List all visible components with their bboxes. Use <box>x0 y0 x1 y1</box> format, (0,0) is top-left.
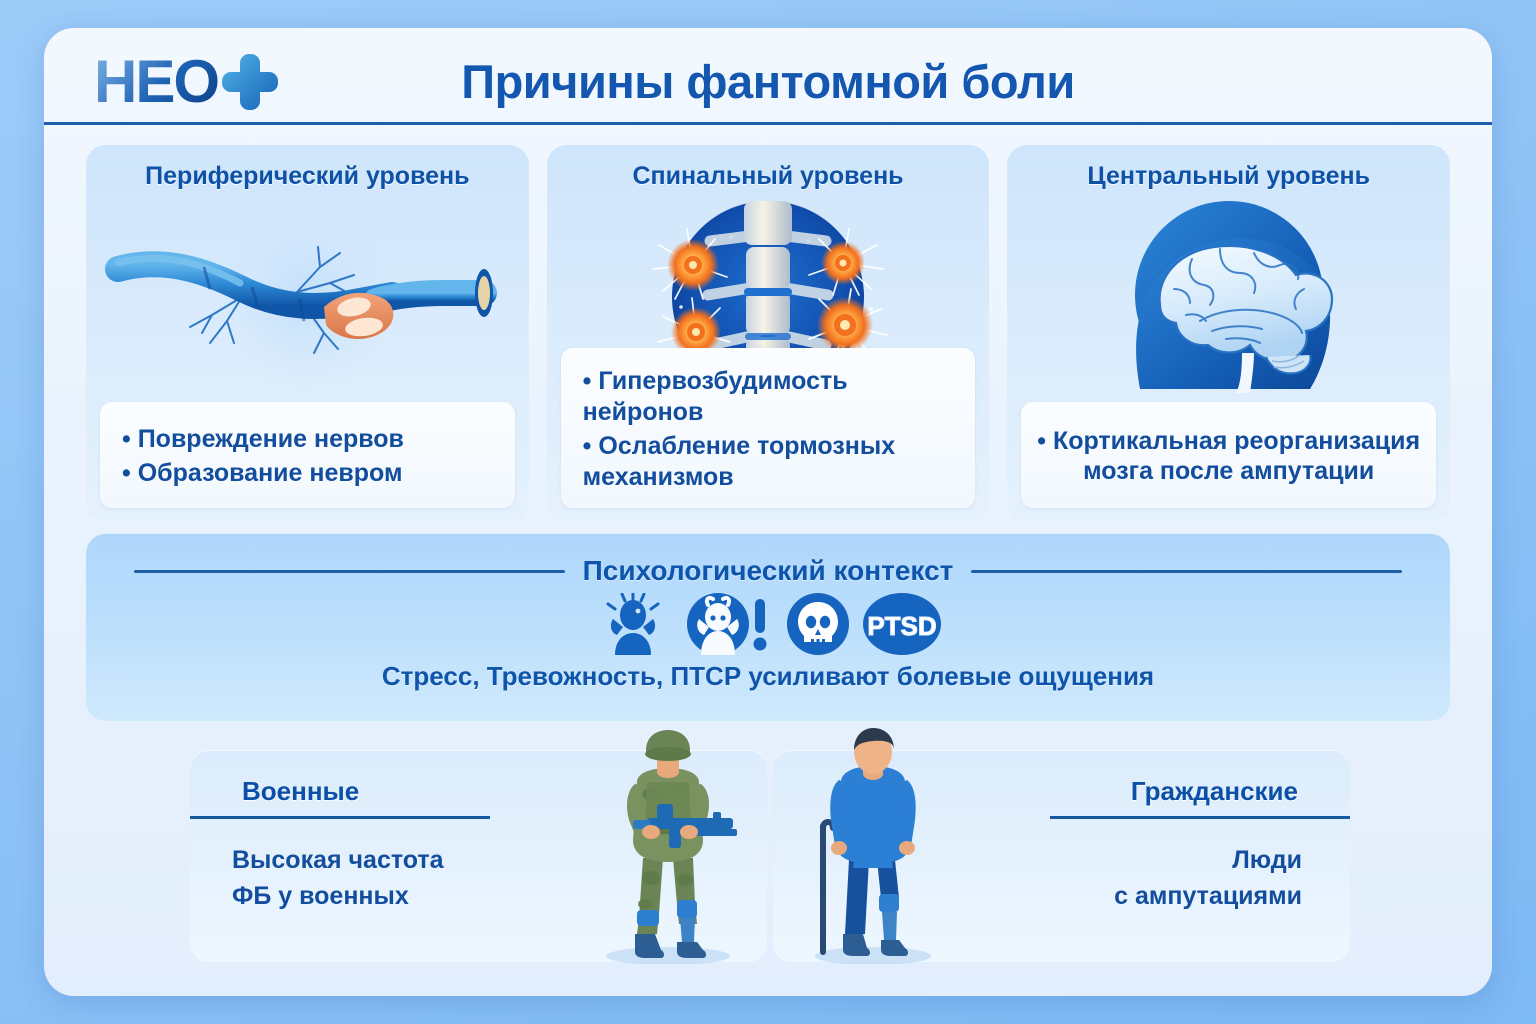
group-title-civilian: Гражданские <box>1131 776 1298 807</box>
exclamation-mark <box>754 599 767 651</box>
psych-rule-left <box>134 570 565 573</box>
group-text-civilian: Люди с ампутациями <box>1114 842 1302 915</box>
poster-header: НЕО Причины фантомной боли <box>44 28 1492 124</box>
skull-icon[interactable] <box>787 593 849 655</box>
bullet-item: • Повреждение нервов <box>122 424 501 455</box>
group-card-civilian[interactable]: Гражданские Люди с ампутациями <box>773 750 1350 962</box>
anxious-person-exclamation-icon[interactable] <box>685 593 773 655</box>
stressed-person-icon[interactable] <box>595 593 671 655</box>
psych-icon-row: PTSD <box>86 593 1450 655</box>
level-heading-peripheral: Периферический уровень <box>86 162 529 191</box>
group-title-military: Военные <box>242 776 359 807</box>
group-rule-civilian <box>1050 816 1350 819</box>
ptsd-label: PTSD <box>867 611 936 641</box>
level-bullets-central: • Кортикальная реорганизация мозга после… <box>1021 402 1436 508</box>
nerve-illustration <box>86 197 529 393</box>
bullet-item: • Ослабление тормозных механизмов <box>583 431 962 492</box>
groups-row: Военные Высокая частота ФБ у военных <box>190 750 1350 962</box>
bullet-item: • Образование невром <box>122 458 501 489</box>
level-card-peripheral[interactable]: Периферический уровень <box>86 144 529 524</box>
psychological-context-panel[interactable]: Психологический контекст <box>86 533 1450 721</box>
bullet-item: • Кортикальная реорганизация мозга после… <box>1035 426 1422 487</box>
psych-title-row: Психологический контекст <box>86 533 1450 587</box>
group-text-military: Высокая частота ФБ у военных <box>232 842 444 915</box>
page-title: Причины фантомной боли <box>44 54 1492 109</box>
group-rule-military <box>190 816 490 819</box>
bullet-item: • Гипервозбудимость нейронов <box>583 366 962 427</box>
level-bullets-peripheral: • Повреждение нервов • Образование невро… <box>100 402 515 508</box>
civilian-with-cane-and-prosthetic-leg-illustration <box>777 728 957 964</box>
level-card-central[interactable]: Центральный уровень <box>1007 144 1450 524</box>
level-heading-spinal: Спинальный уровень <box>547 162 990 191</box>
psych-caption: Стресс, Тревожность, ПТСР усиливают боле… <box>86 661 1450 692</box>
level-bullets-spinal: • Гипервозбудимость нейронов • Ослаблени… <box>561 348 976 508</box>
level-card-spinal[interactable]: Спинальный уровень <box>547 144 990 524</box>
ptsd-badge-icon[interactable]: PTSD <box>863 593 941 655</box>
psych-rule-right <box>971 570 1402 573</box>
group-card-military[interactable]: Военные Высокая частота ФБ у военных <box>190 750 767 962</box>
soldier-with-prosthetic-leg-illustration <box>573 728 763 964</box>
levels-row: Периферический уровень <box>86 144 1450 524</box>
brain-illustration <box>1007 197 1450 393</box>
infographic-poster: НЕО Причины фантомной боли Периферически… <box>44 28 1492 996</box>
psych-title: Психологический контекст <box>583 555 954 587</box>
level-heading-central: Центральный уровень <box>1007 162 1450 191</box>
header-divider <box>44 122 1492 125</box>
